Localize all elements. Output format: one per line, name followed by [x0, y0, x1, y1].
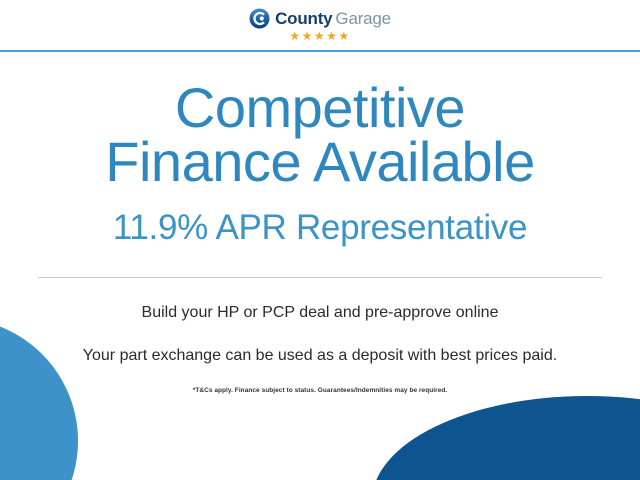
page-title: Competitive Finance Available: [0, 81, 640, 190]
finance-promo-poster: CountyGarage ★★★★★ Competitive Finance A…: [0, 0, 640, 480]
brand-name-primary: County: [275, 9, 332, 28]
county-garage-circle-logo-icon: [249, 8, 270, 29]
headline-line-1: Competitive: [0, 81, 640, 135]
poster-header: CountyGarage ★★★★★: [0, 0, 640, 51]
brand-wordmark: CountyGarage: [275, 10, 391, 27]
body-text-line-2: Your part exchange can be used as a depo…: [0, 348, 640, 364]
brand-logo: CountyGarage: [249, 7, 391, 29]
poster-content: Competitive Finance Available 11.9% APR …: [0, 51, 640, 394]
content-divider: [38, 277, 602, 278]
brand-name-secondary: Garage: [335, 9, 391, 28]
star-rating-icon: ★★★★★: [289, 30, 350, 42]
body-text-line-1: Build your HP or PCP deal and pre-approv…: [0, 305, 640, 321]
disclaimer-text: *T&Cs apply. Finance subject to status. …: [0, 388, 640, 395]
decorative-ellipse-bottom-right: [372, 396, 640, 480]
headline-line-2: Finance Available: [0, 135, 640, 189]
apr-subheadline: 11.9% APR Representative: [0, 210, 640, 245]
